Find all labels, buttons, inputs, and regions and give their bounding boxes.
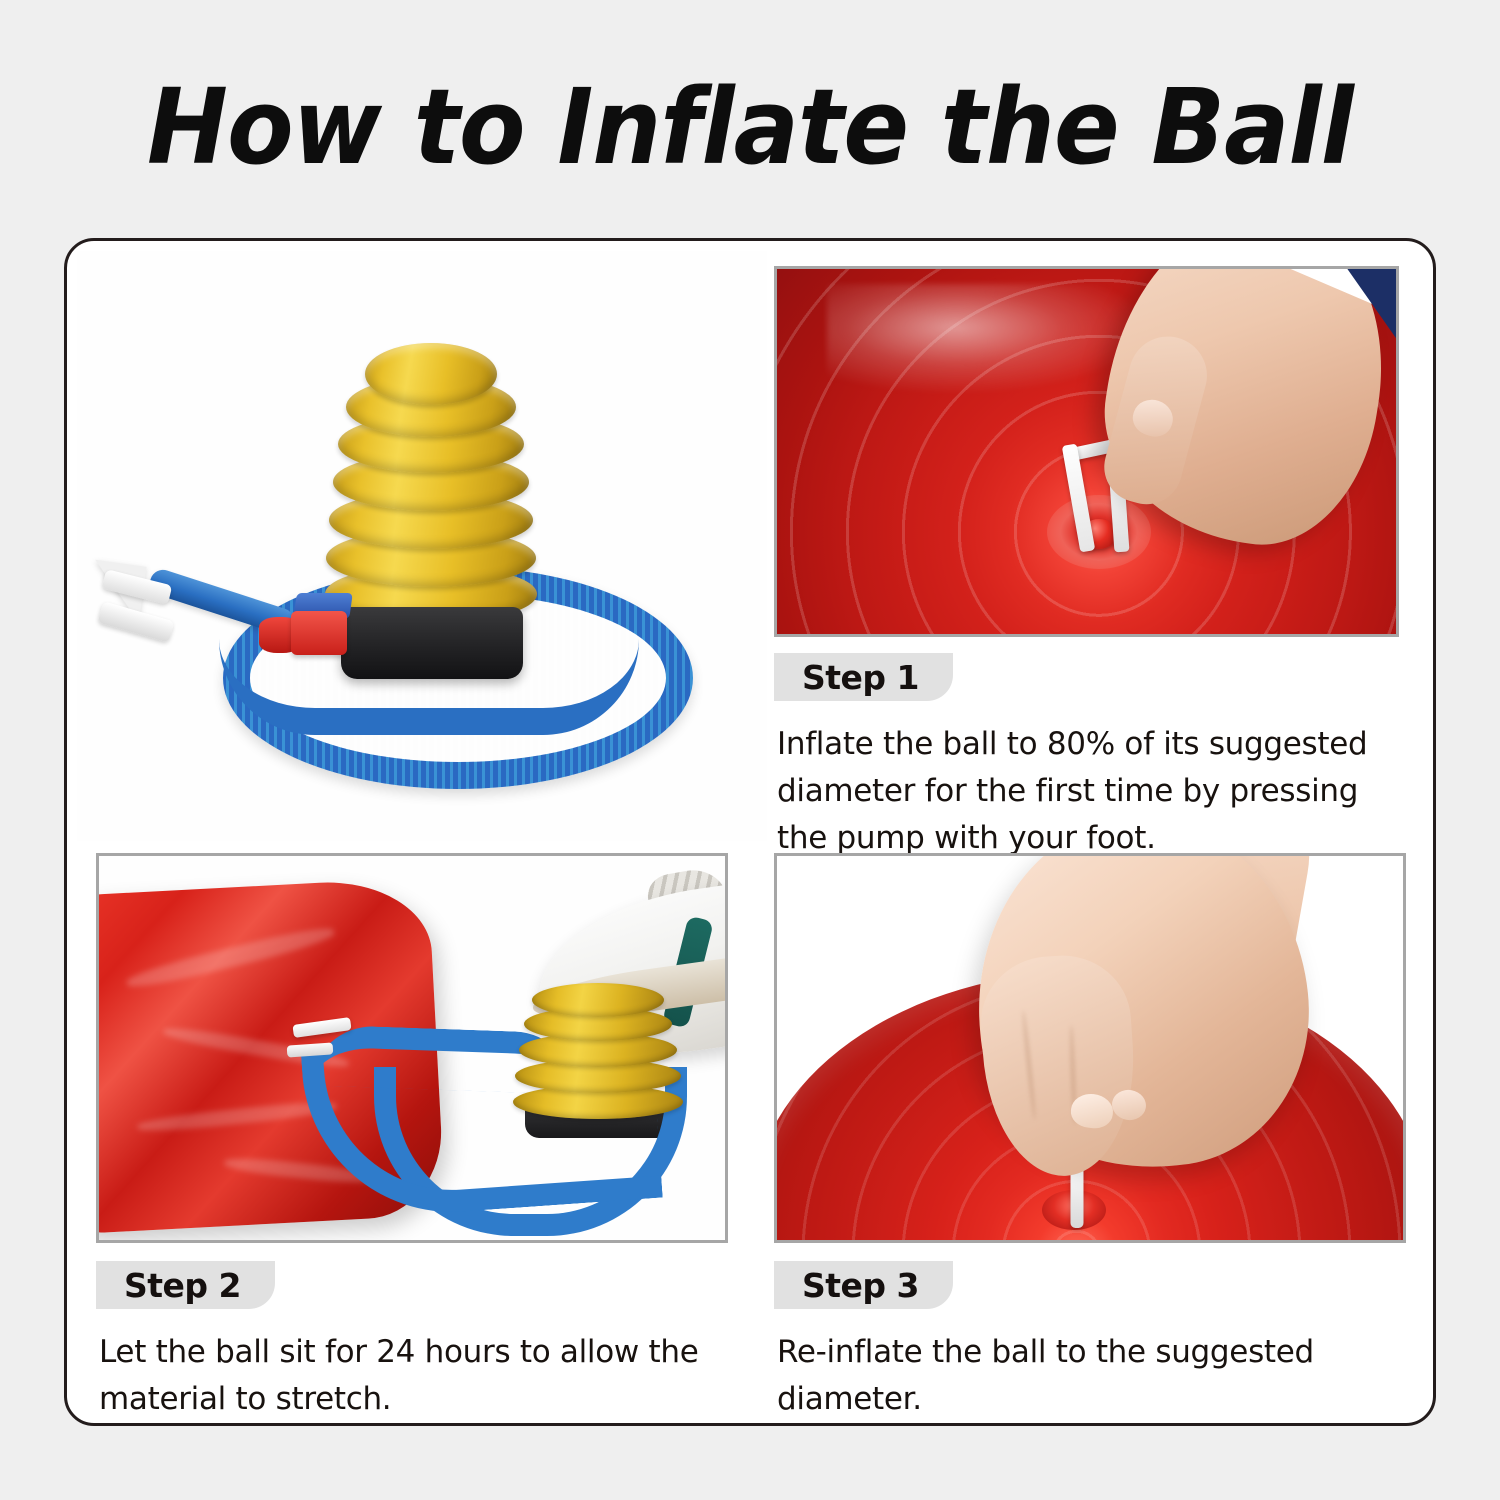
red-valve-icon [291, 611, 347, 655]
step-3-description: Re-inflate the ball to the suggested dia… [777, 1329, 1417, 1423]
step-2-image [96, 853, 728, 1243]
foot-pump-illustration [195, 339, 655, 739]
ball-highlight-icon [827, 284, 1149, 394]
step-2-description: Let the ball sit for 24 hours to allow t… [99, 1329, 709, 1423]
step-1-badge-label: Step 1 [802, 661, 919, 694]
step-2-badge-label: Step 2 [124, 1269, 241, 1302]
step-1-badge: Step 1 [774, 653, 953, 701]
product-panel [77, 251, 767, 841]
step-2-badge: Step 2 [96, 1261, 275, 1309]
step-2-panel: Step 2 Let the ball sit for 24 hours to … [77, 841, 767, 1419]
step-1-image [774, 266, 1399, 637]
step-3-panel: Step 3 Re-inflate the ball to the sugges… [767, 841, 1429, 1419]
step-3-badge: Step 3 [774, 1261, 953, 1309]
pump-base-icon [341, 607, 523, 679]
infographic-page: How to Inflate the Ball [0, 0, 1500, 1500]
step-3-image [774, 853, 1406, 1243]
step-3-badge-label: Step 3 [802, 1269, 919, 1302]
foot-pump-image [77, 251, 767, 841]
photo-corner-navy-icon [1346, 267, 1398, 341]
pump-bellows-icon [325, 343, 537, 627]
step-1-panel: Step 1 Inflate the ball to 80% of its su… [767, 251, 1429, 841]
page-title: How to Inflate the Ball [53, 68, 1448, 186]
steps-card: Step 1 Inflate the ball to 80% of its su… [64, 238, 1436, 1426]
